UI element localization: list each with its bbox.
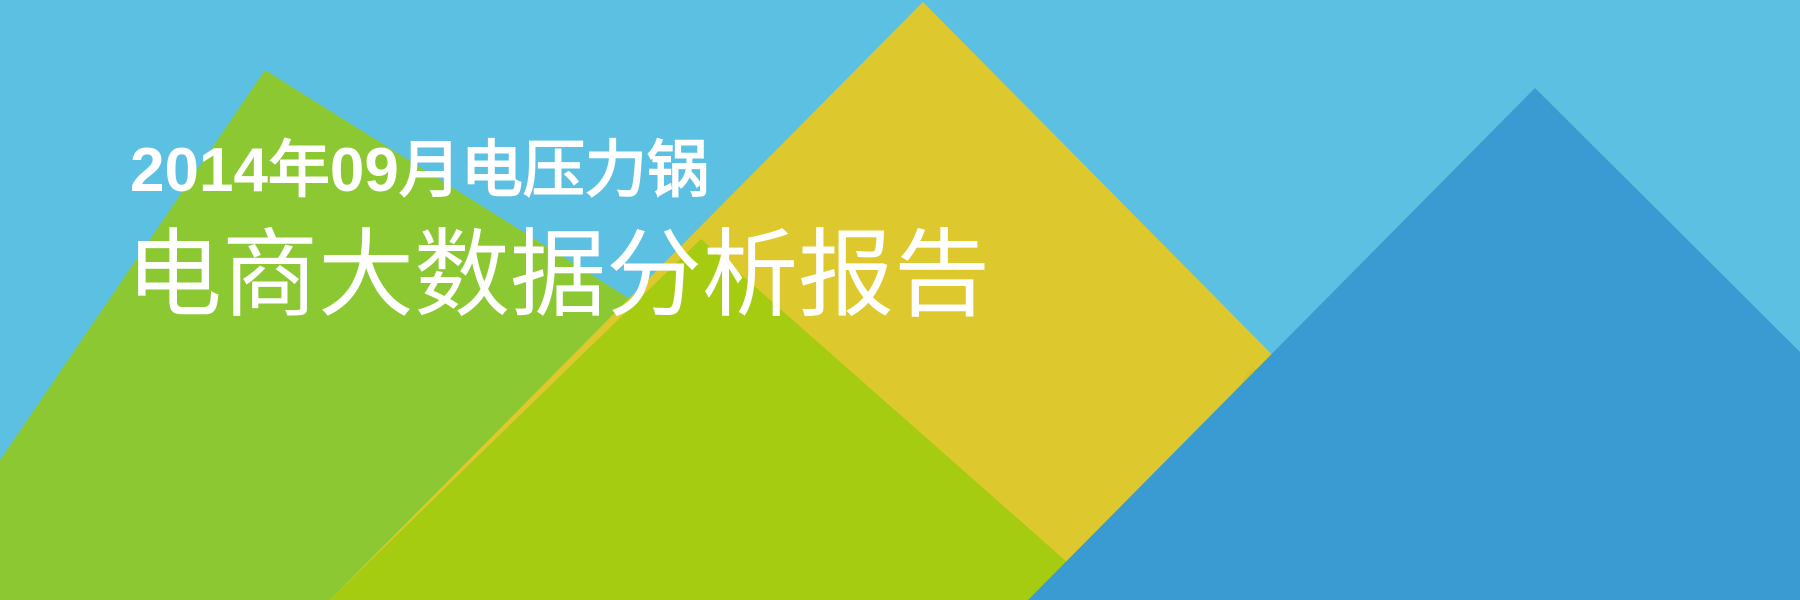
report-cover-banner: 2014年09月电压力锅 电商大数据分析报告 [0, 0, 1800, 600]
background-shapes [0, 0, 1800, 600]
